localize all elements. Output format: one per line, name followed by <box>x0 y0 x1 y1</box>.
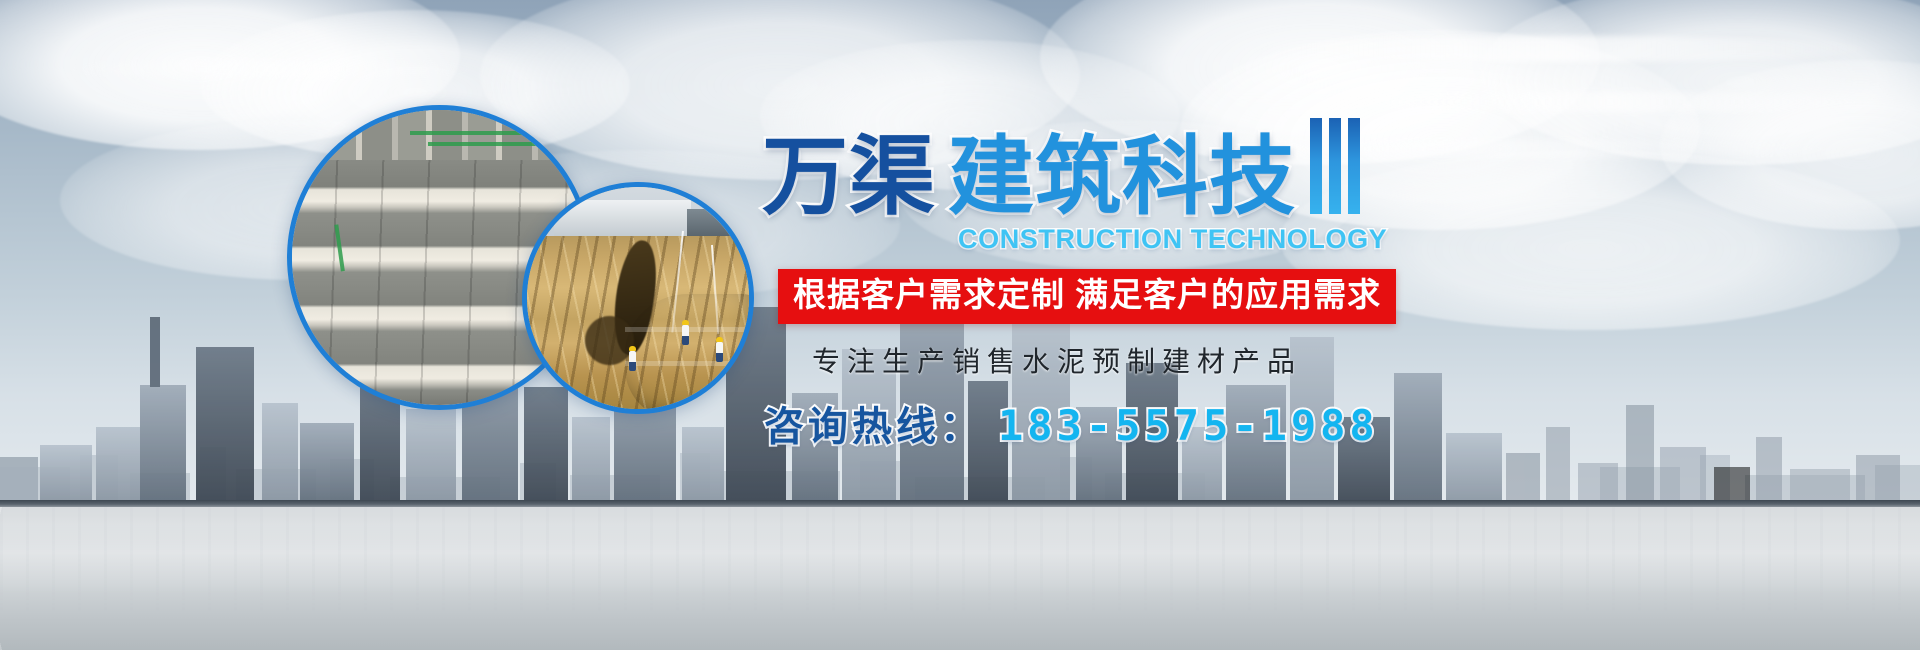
cloud-streak <box>1240 36 1880 62</box>
banner-text-block: 万渠 建筑科技 CONSTRUCTION TECHNOLOGY 根据客户需求定制… <box>762 118 1762 452</box>
green-strap <box>428 142 581 146</box>
construction-worker <box>682 325 689 345</box>
hotline-row: 咨询热线： 183-5575-1988 <box>764 394 1762 452</box>
horizon-line <box>0 500 1920 507</box>
ground-reflection <box>0 507 1920 614</box>
red-banner-text: 根据客户需求定制 满足客户的应用需求 <box>793 276 1381 315</box>
hotline-phone-number[interactable]: 183-5575-1988 <box>998 401 1379 450</box>
accent-bar <box>1310 118 1322 214</box>
accent-bar <box>1329 118 1341 214</box>
project-photo-circle-sub <box>522 182 754 414</box>
construction-worker <box>629 351 636 371</box>
red-highlight-banner: 根据客户需求定制 满足客户的应用需求 <box>778 269 1396 324</box>
accent-bars-decoration <box>1310 118 1360 220</box>
tank-band <box>625 327 754 332</box>
company-name-secondary: 建筑科技 <box>948 134 1296 220</box>
hotline-label: 咨询热线： <box>764 394 984 452</box>
cloud-streak <box>1340 92 1880 112</box>
reflective-plaza-ground <box>0 507 1920 650</box>
company-name-primary: 万渠 <box>762 134 936 220</box>
accent-bar <box>1348 118 1360 214</box>
company-title-row: 万渠 建筑科技 <box>762 118 1762 220</box>
company-subtitle-english: CONSTRUCTION TECHNOLOGY <box>958 224 1762 255</box>
cloud-streak <box>60 60 480 78</box>
tank-band <box>625 361 754 366</box>
construction-worker <box>716 342 723 362</box>
green-septic-tank <box>625 294 754 414</box>
excavation-site-image <box>527 187 749 409</box>
green-strap <box>410 131 581 135</box>
business-tagline: 专注生产销售水泥预制建材产品 <box>812 340 1762 380</box>
promo-banner: 万渠 建筑科技 CONSTRUCTION TECHNOLOGY 根据客户需求定制… <box>0 0 1920 650</box>
